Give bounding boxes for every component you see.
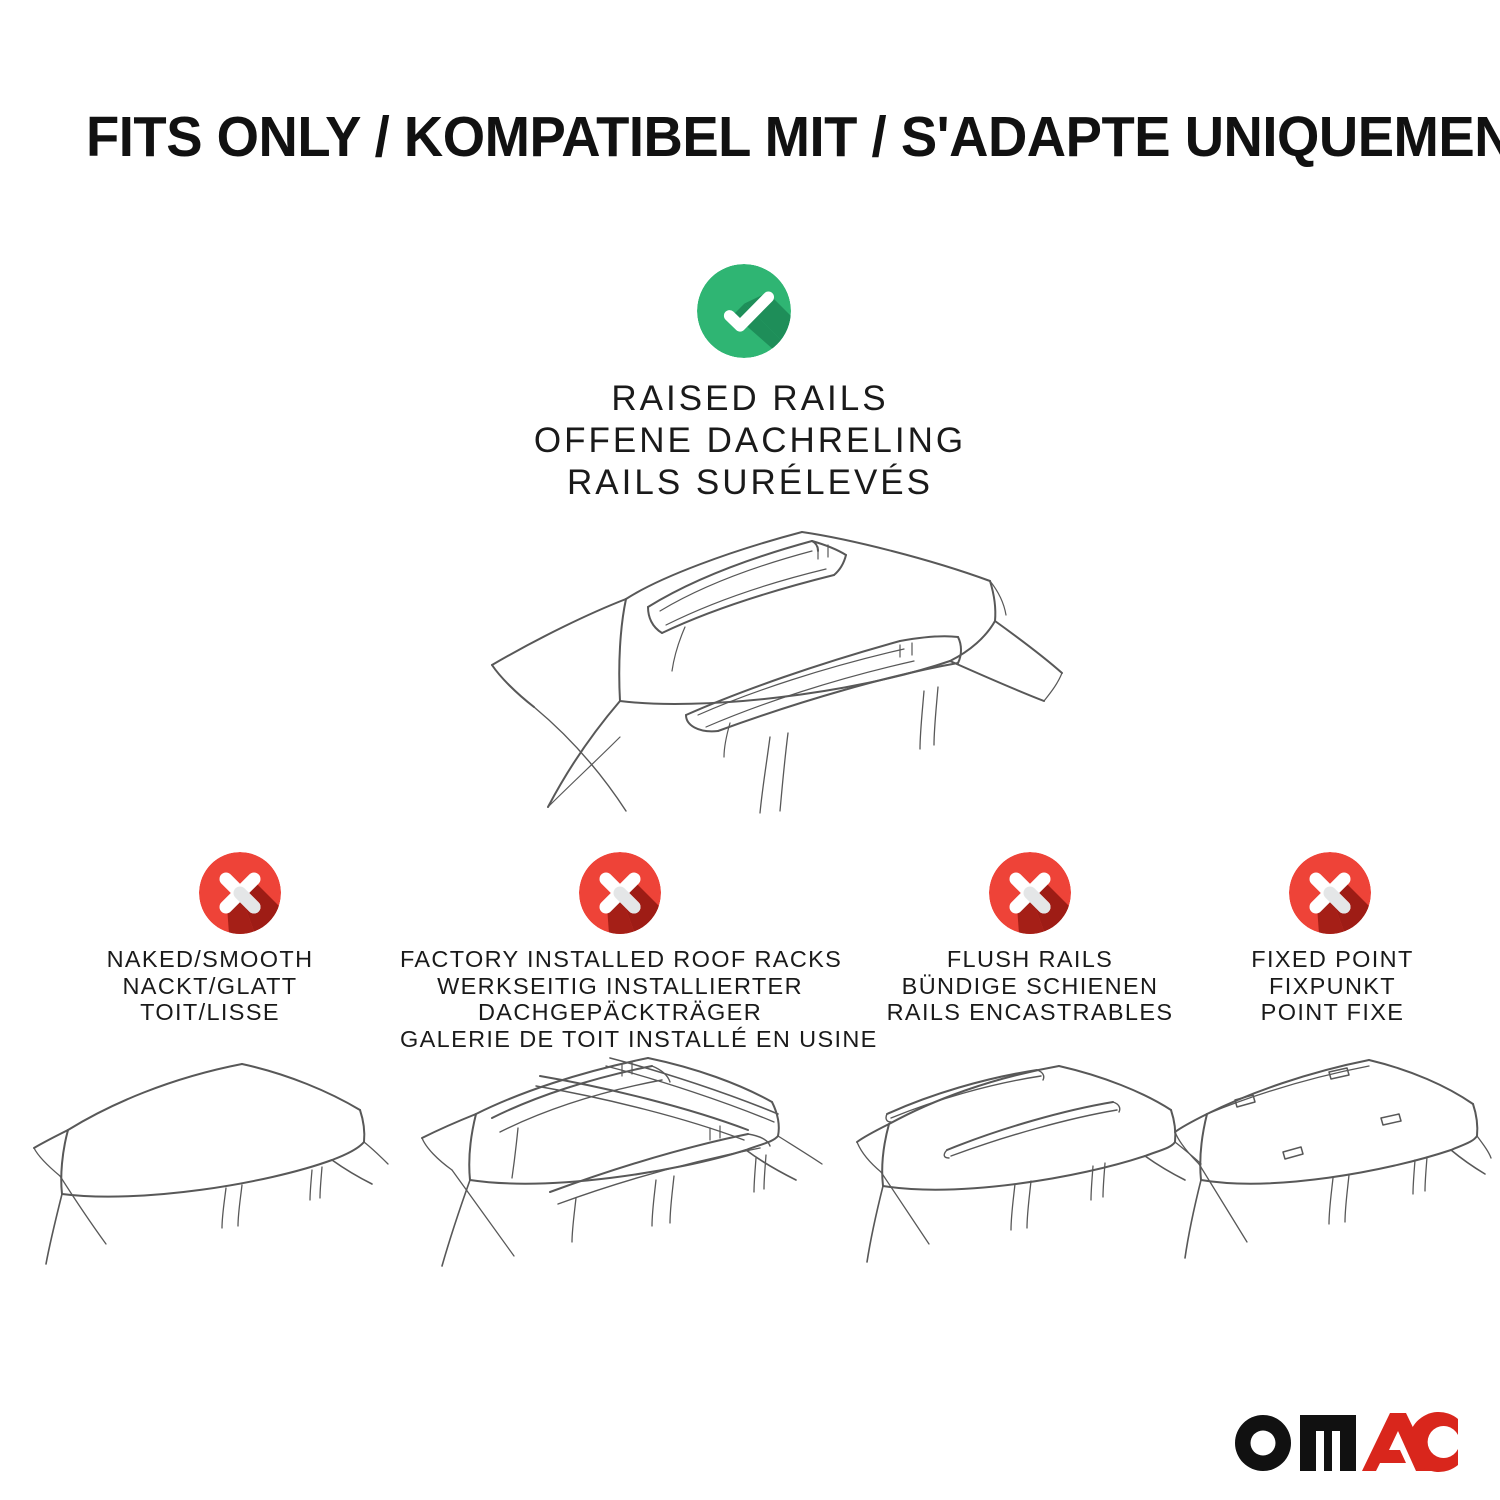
green-check-icon [697,264,791,358]
label-line-2: FIXPUNKT [1185,973,1480,1000]
label-group: NAKED/SMOOTH NACKT/GLATT TOIT/LISSE [30,946,390,1026]
fitment-infographic: FITS ONLY / KOMPATIBEL MIT / S'ADAPTE UN… [0,0,1500,1500]
label-line-3: DACHGEPÄCKTRÄGER [400,999,840,1026]
omac-logo [1228,1405,1458,1477]
car-roof-factory-installed-roof-racks-illustration [400,1052,840,1282]
logo-letter-o [1235,1415,1291,1471]
label-group: FLUSH RAILS BÜNDIGE SCHIENEN RAILS ENCAS… [855,946,1205,1026]
label-line-2: NACKT/GLATT [30,973,390,1000]
compatible-headline: RAISED RAILS OFFENE DACHRELING RAILS SUR… [250,378,1250,504]
label-line-1: FACTORY INSTALLED ROOF RACKS [400,946,840,973]
label-group: FACTORY INSTALLED ROOF RACKS WERKSEITIG … [400,946,840,1052]
label-line-1: NAKED/SMOOTH [30,946,390,973]
label-line-3: TOIT/LISSE [30,999,390,1026]
compatible-line-2: OFFENE DACHRELING [250,420,1250,462]
label-line-1: FIXED POINT [1185,946,1480,973]
label-line-3: POINT FIXE [1185,999,1480,1026]
label-line-3: RAILS ENCASTRABLES [855,999,1205,1026]
label-line-2: BÜNDIGE SCHIENEN [855,973,1205,1000]
label-line-4: GALERIE DE TOIT INSTALLÉ EN USINE [400,1026,840,1053]
red-x-icon [989,852,1071,934]
compatible-line-3: RAILS SURÉLEVÉS [250,462,1250,504]
label-line-1: FLUSH RAILS [855,946,1205,973]
compatible-line-1: RAISED RAILS [250,378,1250,420]
red-x-icon [1289,852,1371,934]
page-title: FITS ONLY / KOMPATIBEL MIT / S'ADAPTE UN… [86,106,1356,168]
logo-letter-m [1300,1415,1356,1471]
car-roof-with-raised-rails-illustration [430,515,1070,825]
car-roof-flush-rails-illustration [855,1052,1205,1277]
car-roof-naked-smooth-illustration [30,1052,390,1277]
label-group: FIXED POINT FIXPUNKT POINT FIXE [1185,946,1480,1026]
label-line-2: WERKSEITIG INSTALLIERTER [400,973,840,1000]
car-roof-fixed-point-illustration [1173,1052,1493,1277]
red-x-icon [199,852,281,934]
red-x-icon [579,852,661,934]
